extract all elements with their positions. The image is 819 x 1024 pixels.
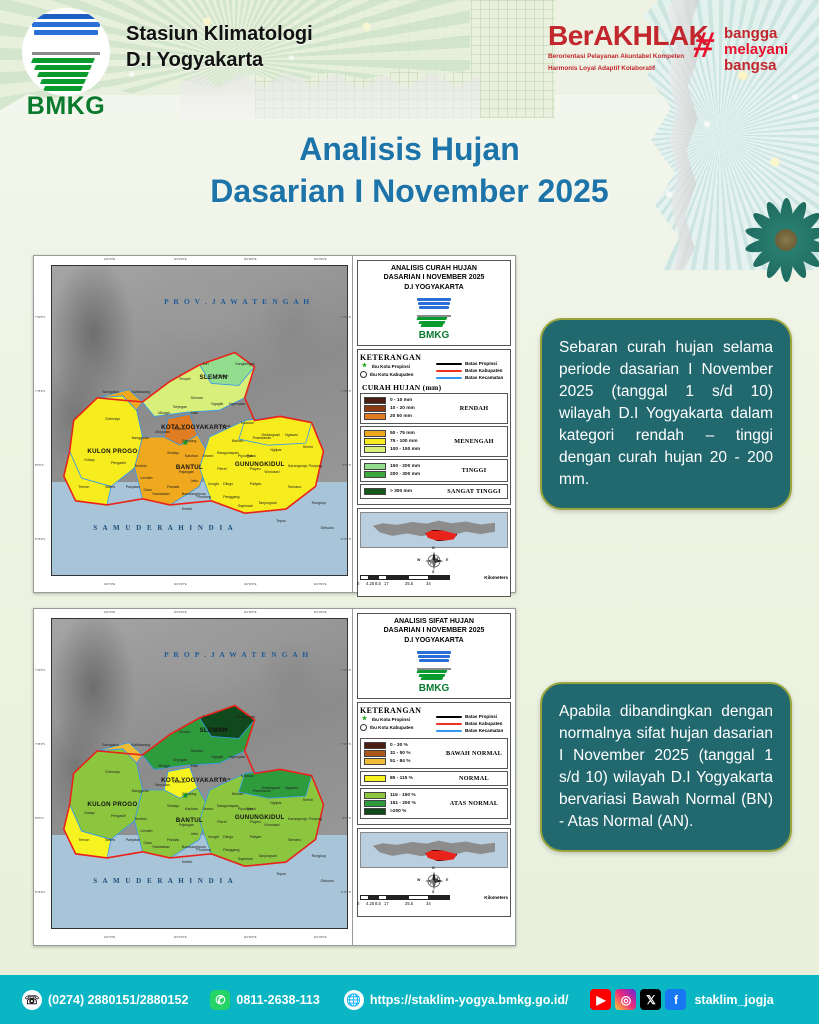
legend-class-label: 10 - 20 mm (390, 406, 415, 411)
color-swatch (364, 430, 386, 437)
scale-segment (360, 575, 369, 580)
star-icon: ★ (360, 716, 369, 722)
axis-tick-y: 7°45'0"S (35, 390, 45, 393)
legend-class-row: 116 - 150 % (364, 792, 444, 799)
legend-label-ibukota-propinsi: Ibu Kota Propinsi (372, 364, 410, 369)
compass-rose-icon (423, 550, 445, 572)
legend-class-label: 75 - 100 mm (390, 439, 417, 444)
color-swatch (364, 800, 386, 807)
map-axes-sifat-hujan: 110°0'0"E110°0'0"E110°15'0"E110°15'0"E11… (34, 609, 352, 945)
axis-tick-x: 110°45'0"E (314, 583, 327, 586)
axis-tick-y: 8°15'0"S (35, 891, 45, 894)
scale-tick-label: 34 (426, 901, 431, 906)
axis-tick-x: 110°30'0"E (244, 936, 257, 939)
axis-tick-y: 8°15'0"S (341, 538, 351, 541)
legend-class-row: 75 - 100 mm (364, 438, 444, 445)
axis-tick-x: 110°30'0"E (244, 611, 257, 614)
legend-class-row: 85 - 115 % (364, 775, 444, 782)
inset-map-java (360, 512, 508, 548)
phone-icon: ☏ (22, 990, 42, 1010)
globe-icon: 🌐 (344, 990, 364, 1010)
axis-tick-y: 8°0'0"S (342, 464, 351, 467)
legend-class-row: > 300 mm (364, 488, 444, 495)
legend-item-ibukota-propinsi: ★ Ibu Kota Propinsi (360, 716, 434, 722)
legend-item-batas-propinsi: Batas Propinsi (436, 714, 508, 719)
axis-tick-x: 110°45'0"E (314, 611, 327, 614)
legend-class-row: 20 50 mm (364, 413, 444, 420)
legend-class-row: 0 - 30 % (364, 742, 444, 749)
legend-category-label: RENDAH (444, 405, 504, 412)
color-swatch (364, 775, 386, 782)
axis-tick-y: 7°30'0"S (341, 669, 351, 672)
line-black-icon (436, 363, 462, 366)
scale-tick-label: 8.5 (375, 581, 381, 586)
color-swatch (364, 446, 386, 453)
legend-bmkg-logo: BMKG (411, 649, 457, 694)
compass-2: N S E W (360, 868, 508, 894)
legend-category-label: BAWAH NORMAL (444, 750, 504, 757)
scale-tick-label: 0 (357, 901, 359, 906)
footer-social[interactable]: ▶ ◎ 𝕏 f staklim_jogja (590, 989, 773, 1010)
header: BMKG Stasiun Klimatologi D.I Yogyakarta … (0, 0, 819, 118)
compass-south-label: S (432, 570, 434, 574)
axis-tick-x: 110°15'0"E (174, 583, 187, 586)
scale-segment (378, 895, 387, 900)
map-panel-sifat-hujan[interactable]: S A M U D E R A H I N D I A P R O P . J … (33, 608, 516, 946)
color-swatch (364, 471, 386, 478)
class-group-bawah-normal: 0 - 30 %31 - 50 %51 - 84 %BAWAH NORMAL (360, 738, 508, 769)
keterangan-box: KETERANGAN ★ Ibu Kota Propinsi Ibu Kota … (357, 702, 511, 825)
axis-tick-y: 8°15'0"S (35, 538, 45, 541)
class-groups-curah-hujan: 0 - 10 mm10 - 20 mm20 50 mmRENDAH50 - 75… (360, 393, 508, 499)
axis-tick-x: 110°15'0"E (174, 936, 187, 939)
footer-phone-label: (0274) 2880151/2880152 (48, 993, 188, 1007)
inset-map-box-2 (360, 832, 508, 868)
bangga-melayani-bangsa: bangga melayani bangsa (724, 26, 788, 73)
legend-label-batas-kecamatan: Batas Kecamatan (465, 375, 503, 380)
legend-class-row: >200 % (364, 808, 444, 815)
compass-north-label: N (432, 546, 435, 550)
legend-item-ibukota-kabupaten: Ibu Kota Kabupaten (360, 371, 434, 378)
legend-title-box: ANALISIS SIFAT HUJAN DASARIAN I NOVEMBER… (357, 613, 511, 699)
legend-title-line2: DASARIAN I NOVEMBER 2025 (360, 273, 508, 282)
legend-class-row: 100 - 150 mm (364, 446, 444, 453)
axis-tick-y: 8°0'0"S (35, 464, 44, 467)
x-twitter-icon[interactable]: 𝕏 (640, 989, 661, 1010)
scale-tick-label: 8.5 (375, 901, 381, 906)
legend-label-batas-kabupaten: Batas Kabupaten (465, 368, 503, 373)
instagram-icon[interactable]: ◎ (615, 989, 636, 1010)
line-red-icon (436, 723, 462, 726)
line-red-icon (436, 370, 462, 373)
berakhlak-logo: BerAKHLAK # Berorientasi Pelayanan Akunt… (548, 22, 798, 87)
scale-segment (408, 895, 429, 900)
bmkg-logo-text: BMKG (14, 92, 118, 121)
scale-tick-label: 17 (384, 581, 389, 586)
color-swatch (364, 742, 386, 749)
tagline-bangsa: bangsa (724, 58, 788, 74)
legend-category-label: TINGGI (444, 467, 504, 474)
color-swatch (364, 758, 386, 765)
compass-east-label: E (446, 558, 448, 562)
legend-class-row: 51 - 84 % (364, 758, 444, 765)
legend-class-label: 100 - 150 mm (390, 447, 420, 452)
map-panel-curah-hujan[interactable]: S A M U D E R A H I N D I A P R O V . J … (33, 255, 516, 593)
color-swatch (364, 397, 386, 404)
legend-class-label: 0 - 10 mm (390, 398, 412, 403)
axis-tick-x: 110°0'0"E (104, 611, 115, 614)
legend-category-label: SANGAT TINGGI (444, 488, 504, 495)
axis-tick-y: 7°30'0"S (35, 669, 45, 672)
line-blue-icon (436, 377, 462, 380)
legend-class-label: 85 - 115 % (390, 776, 413, 781)
legend-category-label: NORMAL (444, 775, 504, 782)
color-swatch (364, 750, 386, 757)
legend-class-label: 50 - 75 mm (390, 431, 415, 436)
axis-tick-y: 8°0'0"S (35, 817, 44, 820)
legend-title-line3: D.I YOGYAKARTA (360, 636, 508, 645)
legend-label-batas-kabupaten: Batas Kabupaten (465, 721, 503, 726)
legend-class-label: 31 - 50 % (390, 751, 411, 756)
inset-map-java (360, 832, 508, 868)
class-group-tinggi: 150 - 200 mm200 - 300 mmTINGGI (360, 459, 508, 482)
keterangan-heading: KETERANGAN (360, 353, 434, 362)
inset-and-scale-box-2: N S E W Kilometers 04.258.51725.534 (357, 828, 511, 917)
scale-tick-label: 25.5 (405, 581, 413, 586)
axis-tick-x: 110°30'0"E (244, 258, 257, 261)
keterangan-heading: KETERANGAN (360, 706, 434, 715)
legend-class-row: 10 - 20 mm (364, 405, 444, 412)
note-box-curah-hujan: Sebaran curah hujan selama periode dasar… (540, 318, 792, 510)
footer-social-handle: staklim_jogja (694, 993, 773, 1007)
axis-tick-x: 110°15'0"E (174, 258, 187, 261)
legend-item-batas-kecamatan: Batas Kecamatan (436, 728, 508, 733)
legend-class-label: 116 - 150 % (390, 793, 416, 798)
scale-segment (360, 895, 369, 900)
legend-label-batas-propinsi: Batas Propinsi (465, 361, 497, 366)
organization-title: Stasiun Klimatologi D.I Yogyakarta (126, 22, 313, 73)
legend-item-ibukota-kabupaten: Ibu Kota Kabupaten (360, 724, 434, 731)
scale-segment (408, 575, 429, 580)
class-group-atas-normal: 116 - 150 %151 - 200 %>200 %ATAS NORMAL (360, 788, 508, 819)
legend-class-label: 151 - 200 % (390, 801, 416, 806)
map-area-sifat-hujan[interactable]: S A M U D E R A H I N D I A P R O P . J … (34, 609, 352, 945)
whatsapp-icon: ✆ (210, 990, 230, 1010)
axis-tick-y: 7°45'0"S (341, 390, 351, 393)
compass-rose-icon (423, 870, 445, 892)
legend-item-batas-kabupaten: Batas Kabupaten (436, 721, 508, 726)
legend-label-ibukota-propinsi: Ibu Kota Propinsi (372, 717, 410, 722)
scale-segment (387, 895, 408, 900)
axis-tick-y: 7°45'0"S (35, 743, 45, 746)
line-blue-icon (436, 730, 462, 733)
legend-bmkg-emblem (412, 296, 456, 329)
line-black-icon (436, 716, 462, 719)
compass-south-label: S (432, 890, 434, 894)
legend-class-label: 150 - 200 mm (390, 464, 420, 469)
scale-bar-2: Kilometers 04.258.51725.534 (360, 895, 508, 913)
legend-class-row: 0 - 10 mm (364, 397, 444, 404)
color-swatch (364, 405, 386, 412)
org-title-line2: D.I Yogyakarta (126, 48, 313, 74)
legend-class-label: 20 50 mm (390, 414, 412, 419)
legend-category-label: ATAS NORMAL (444, 800, 504, 807)
color-swatch (364, 808, 386, 815)
legend-label-batas-kecamatan: Batas Kecamatan (465, 728, 503, 733)
legend-title-line2: DASARIAN I NOVEMBER 2025 (360, 626, 508, 635)
legend-title-line1: ANALISIS CURAH HUJAN (360, 264, 508, 273)
youtube-icon[interactable]: ▶ (590, 989, 611, 1010)
axis-tick-x: 110°30'0"E (244, 583, 257, 586)
color-swatch (364, 488, 386, 495)
scale-segment (369, 895, 378, 900)
legend-bmkg-text: BMKG (411, 683, 457, 694)
class-group-menengah: 50 - 75 mm75 - 100 mm100 - 150 mmMENENGA… (360, 426, 508, 457)
legend-bmkg-emblem (412, 649, 456, 682)
axis-tick-x: 110°0'0"E (104, 258, 115, 261)
legend-bmkg-logo: BMKG (411, 296, 457, 341)
legend-class-label: >200 % (390, 809, 406, 814)
org-title-line1: Stasiun Klimatologi (126, 22, 313, 48)
compass-west-label: W (417, 558, 420, 562)
axis-tick-x: 110°0'0"E (104, 936, 115, 939)
axis-tick-y: 8°15'0"S (341, 891, 351, 894)
bmkg-logo: BMKG (14, 8, 118, 116)
legend-class-label: > 300 mm (390, 489, 412, 494)
scale-tick-label: 25.5 (405, 901, 413, 906)
legend-column-curah-hujan[interactable]: ANALISIS CURAH HUJAN DASARIAN I NOVEMBER… (352, 256, 515, 592)
legend-item-batas-kecamatan: Batas Kecamatan (436, 375, 508, 380)
footer-whatsapp-label: 0811-2638-113 (236, 993, 319, 1007)
facebook-icon[interactable]: f (665, 989, 686, 1010)
footer-phone[interactable]: ☏ (0274) 2880151/2880152 (22, 990, 188, 1010)
scale-segment (378, 575, 387, 580)
class-group-normal: 85 - 115 %NORMAL (360, 771, 508, 786)
scale-unit-label-2: Kilometers (484, 895, 508, 900)
inset-map-box-1 (360, 512, 508, 548)
star-icon: ★ (360, 363, 369, 369)
scale-unit-label-1: Kilometers (484, 575, 508, 580)
legend-class-row: 150 - 200 mm (364, 463, 444, 470)
legend-item-batas-propinsi: Batas Propinsi (436, 361, 508, 366)
tagline-bangga: bangga (724, 26, 788, 42)
scale-tick-label: 0 (357, 581, 359, 586)
color-swatch (364, 438, 386, 445)
legend-label-ibukota-kabupaten: Ibu Kota Kabupaten (370, 372, 413, 377)
legend-label-batas-propinsi: Batas Propinsi (465, 714, 497, 719)
circle-icon (360, 724, 367, 731)
axis-tick-y: 7°30'0"S (35, 316, 45, 319)
scale-tick-label: 4.25 (366, 581, 374, 586)
class-group-sangat-tinggi: > 300 mmSANGAT TINGGI (360, 484, 508, 499)
axis-tick-x: 110°45'0"E (314, 258, 327, 261)
page-title-line2: Dasarian I November 2025 (0, 170, 819, 212)
legend-title-box: ANALISIS CURAH HUJAN DASARIAN I NOVEMBER… (357, 260, 511, 346)
color-swatch (364, 413, 386, 420)
axis-tick-x: 110°0'0"E (104, 583, 115, 586)
inset-and-scale-box-1: N S E W Kilometers 04.258.51725.534 (357, 508, 511, 597)
color-swatch (364, 792, 386, 799)
legend-class-row: 151 - 200 % (364, 800, 444, 807)
legend-class-row: 31 - 50 % (364, 750, 444, 757)
axis-tick-x: 110°45'0"E (314, 936, 327, 939)
legend-class-label: 200 - 300 mm (390, 472, 420, 477)
legend-class-label: 51 - 84 % (390, 759, 411, 764)
legend-label-ibukota-kabupaten: Ibu Kota Kabupaten (370, 725, 413, 730)
flower-core (775, 229, 797, 251)
scale-tick-label: 17 (384, 901, 389, 906)
scale-segment (369, 575, 378, 580)
legend-category-label: MENENGAH (444, 438, 504, 445)
map-axes-curah-hujan: 110°0'0"E110°0'0"E110°15'0"E110°15'0"E11… (34, 256, 352, 592)
bmkg-logo-emblem (22, 8, 110, 96)
axis-tick-y: 7°30'0"S (341, 316, 351, 319)
class-groups-sifat-hujan: 0 - 30 %31 - 50 %51 - 84 %BAWAH NORMAL85… (360, 738, 508, 819)
color-swatch (364, 463, 386, 470)
note-box-sifat-hujan: Apabila dibandingkan dengan normalnya si… (540, 682, 792, 852)
compass-east-label: E (446, 878, 448, 882)
tagline-melayani: melayani (724, 42, 788, 58)
legend-item-batas-kabupaten: Batas Kabupaten (436, 368, 508, 373)
legend-title-line1: ANALISIS SIFAT HUJAN (360, 617, 508, 626)
footer-contact-bar: ☏ (0274) 2880151/2880152 ✆ 0811-2638-113… (0, 975, 819, 1024)
scale-segment (429, 895, 450, 900)
scale-segment (387, 575, 408, 580)
legend-class-label: 0 - 30 % (390, 743, 408, 748)
scale-segment (429, 575, 450, 580)
circle-icon (360, 371, 367, 378)
footer-website-label: https://staklim-yogya.bmkg.go.id/ (370, 993, 569, 1007)
legend-class-row: 200 - 300 mm (364, 471, 444, 478)
keterangan-box: KETERANGAN ★ Ibu Kota Propinsi Ibu Kota … (357, 349, 511, 505)
axis-tick-x: 110°15'0"E (174, 611, 187, 614)
page-title: Analisis Hujan Dasarian I November 2025 (0, 128, 819, 212)
legend-column-sifat-hujan[interactable]: ANALISIS SIFAT HUJAN DASARIAN I NOVEMBER… (352, 609, 515, 945)
legend-bmkg-text: BMKG (411, 330, 457, 341)
class-heading-curah-hujan: CURAH HUJAN (mm) (360, 382, 508, 393)
scale-tick-label: 34 (426, 581, 431, 586)
class-group-rendah: 0 - 10 mm10 - 20 mm20 50 mmRENDAH (360, 393, 508, 424)
compass-north-label: N (432, 866, 435, 870)
axis-tick-y: 8°0'0"S (342, 817, 351, 820)
scale-bar-1: Kilometers 04.258.51725.534 (360, 575, 508, 593)
legend-item-ibukota-propinsi: ★ Ibu Kota Propinsi (360, 363, 434, 369)
footer-whatsapp[interactable]: ✆ 0811-2638-113 (210, 990, 319, 1010)
scale-tick-label: 4.25 (366, 901, 374, 906)
axis-tick-y: 7°45'0"S (341, 743, 351, 746)
legend-title-line3: D.I YOGYAKARTA (360, 283, 508, 292)
page-title-line1: Analisis Hujan (0, 128, 819, 170)
footer-website[interactable]: 🌐 https://staklim-yogya.bmkg.go.id/ (344, 990, 569, 1010)
map-area-curah-hujan[interactable]: S A M U D E R A H I N D I A P R O V . J … (34, 256, 352, 592)
legend-class-row: 50 - 75 mm (364, 430, 444, 437)
compass-west-label: W (417, 878, 420, 882)
compass-1: N S E W (360, 548, 508, 574)
